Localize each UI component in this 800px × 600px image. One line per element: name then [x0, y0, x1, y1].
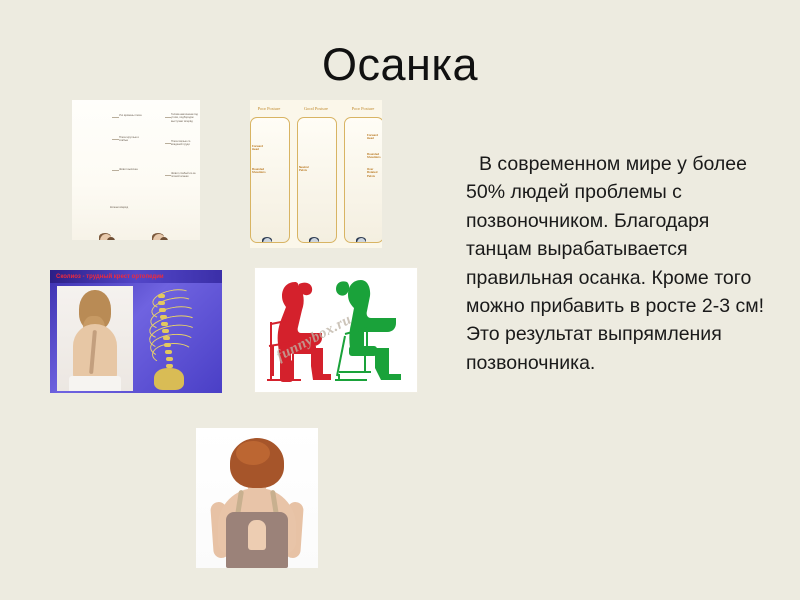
panel-label-good: Good Posture — [296, 106, 336, 111]
annotation: Over Rotated Pelvis — [367, 168, 382, 178]
panel-label-poor-left: Poor Posture — [250, 106, 289, 111]
annotation: Rounded Shoulders — [367, 153, 382, 160]
presentation-slide: Осанка Ухо вровень плеча Плечи круглые и… — [0, 0, 800, 600]
annotation: Forward Head — [252, 145, 267, 152]
annotation: Rounded Shoulders — [252, 168, 267, 175]
vertebra — [161, 322, 168, 326]
skeleton-spine-ribcage — [138, 284, 218, 392]
photo-womans-back — [57, 286, 133, 391]
callout-label: Плечи круглые и слабые — [119, 136, 145, 143]
image-scoliosis-spine: Сколиоз - трудный крест ортопедии — [50, 270, 222, 393]
image-sitting-posture-comparison: funnybox.ru — [254, 267, 418, 393]
image-profile-posture-pair: Ухо вровень плеча Плечи круглые и слабые… — [72, 100, 200, 240]
annotation: Neutral Pelvis — [299, 166, 313, 173]
hair-bun — [107, 237, 115, 240]
callout-label: Колени вперёд — [110, 206, 138, 209]
vertebra — [166, 357, 173, 361]
pelvis — [154, 368, 184, 390]
head — [310, 238, 319, 243]
head — [357, 238, 366, 243]
vertebra — [159, 308, 166, 312]
callout-leader-line — [112, 170, 119, 171]
annotation: Forward Head — [367, 134, 382, 141]
vertebra — [162, 329, 169, 333]
callout-label: Ухо вровень плеча — [119, 114, 145, 117]
callout-label: Плечи вялые со впадиной груди — [171, 140, 198, 147]
callout-leader-line — [165, 175, 171, 176]
white-skirt — [69, 376, 121, 391]
hands-in-prayer — [248, 520, 266, 550]
hair-bun — [160, 237, 168, 240]
vertebra — [158, 301, 165, 305]
hair-highlight — [236, 441, 270, 465]
vertebra — [165, 350, 172, 354]
vertebra — [164, 343, 171, 347]
vertebra — [158, 294, 165, 298]
callout-label: Живот слабый из-за плохой осанки — [171, 172, 198, 179]
page-title: Осанка — [60, 38, 740, 92]
callout-leader-line — [112, 117, 119, 118]
callout-leader-line — [112, 139, 119, 140]
panel-poor-posture-left: Forward Head Rounded Shoulders — [250, 117, 290, 243]
callout-leader-line — [165, 143, 171, 144]
vertebra — [163, 336, 170, 340]
rib — [152, 342, 195, 365]
vertebra — [160, 315, 167, 319]
panel-good-posture: Neutral Pelvis — [297, 117, 337, 243]
image-yoga-reverse-prayer — [196, 428, 318, 568]
image-posture-comparison-panels: Poor Posture Good Posture Poor Posture F… — [250, 100, 382, 248]
panel-label-poor-right: Poor Posture — [343, 106, 382, 111]
panel-poor-posture-right: Forward Head Rounded Shoulders Over Rota… — [344, 117, 382, 243]
callout-label: Голова наклонена под углом, подбородок в… — [171, 113, 198, 123]
callout-label: Живот выпячен — [119, 168, 145, 171]
callout-leader-line — [165, 117, 171, 118]
slide-body-text: В современном мире у более 50% людей про… — [466, 150, 776, 377]
scoliosis-header-text: Сколиоз - трудный крест ортопедии — [56, 273, 164, 281]
head — [263, 238, 272, 243]
